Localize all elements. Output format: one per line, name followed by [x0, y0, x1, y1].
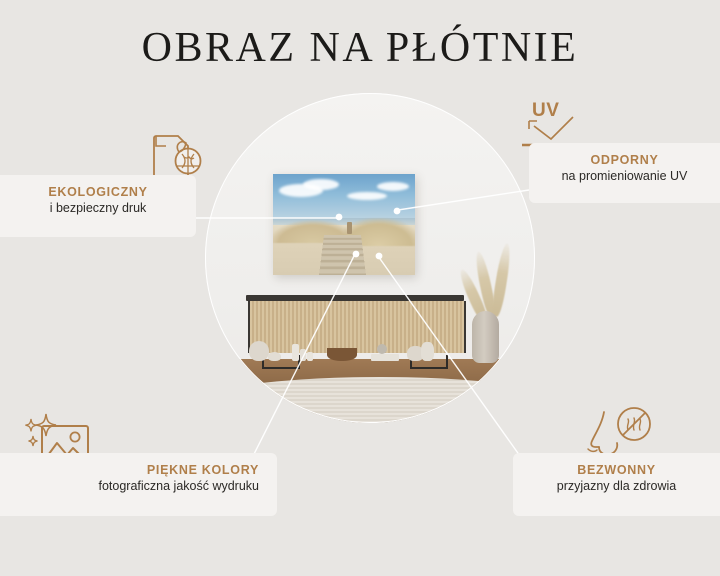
decor-jug — [421, 342, 434, 361]
room-background — [205, 93, 535, 423]
pampas-stem — [490, 243, 512, 318]
artwork-cloud — [347, 192, 387, 200]
feature-panel-colors: PIĘKNE KOLORY fotograficzna jakość wydru… — [0, 453, 277, 516]
artwork-boardwalk — [318, 235, 367, 275]
feature-panel-eco: EKOLOGICZNY i bezpieczny druk — [0, 175, 196, 237]
feature-odorless-title: BEZWONNY — [529, 462, 704, 478]
canvas-artwork — [273, 174, 415, 275]
feature-eco-title: EKOLOGICZNY — [16, 184, 180, 200]
decor-small-bowl — [268, 352, 281, 361]
feature-odorless-subtitle: przyjazny dla zdrowia — [529, 478, 704, 495]
feature-eco-subtitle: i bezpieczny druk — [16, 200, 180, 217]
feature-colors-subtitle: fotograficzna jakość wydruku — [16, 478, 259, 495]
infographic-root: OBRAZ NA PŁÓTNIE — [0, 0, 720, 576]
feature-panel-odorless: BEZWONNY przyjazny dla zdrowia — [513, 453, 720, 516]
stone-vase — [472, 311, 499, 363]
feature-uv-title: ODPORNY — [545, 152, 704, 168]
decor-candle — [307, 352, 313, 361]
feature-uv-subtitle: na promieniowanie UV — [545, 168, 704, 185]
decor-round-vase — [249, 341, 269, 361]
artwork-sky — [273, 174, 415, 220]
decor-candle — [292, 344, 299, 361]
artwork-post — [347, 222, 352, 234]
area-rug — [205, 377, 535, 423]
decor-books — [371, 354, 399, 361]
decor-candle — [300, 349, 306, 361]
artwork-cloud — [303, 179, 339, 190]
artwork-cloud — [377, 182, 409, 191]
decor-wooden-bowl — [327, 348, 357, 361]
page-title: OBRAZ NA PŁÓTNIE — [0, 24, 720, 72]
feature-colors-title: PIĘKNE KOLORY — [16, 462, 259, 478]
product-scene-circle — [205, 93, 535, 423]
feature-panel-uv: ODPORNY na promieniowanie UV — [529, 143, 720, 203]
decor-sphere — [377, 344, 387, 354]
